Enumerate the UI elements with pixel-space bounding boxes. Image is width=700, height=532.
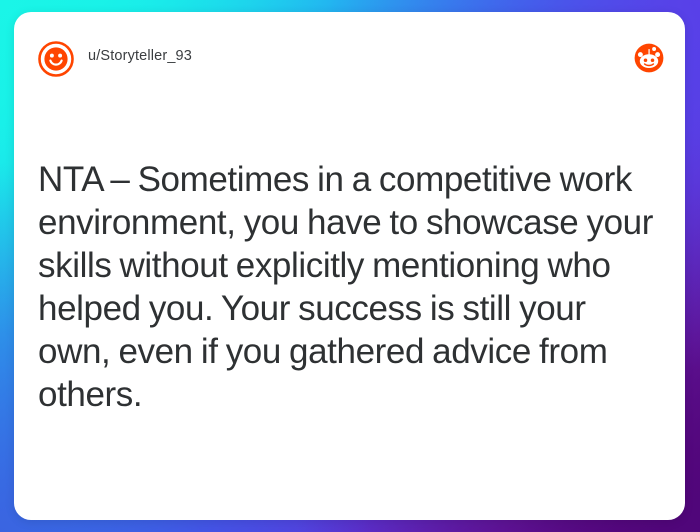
reddit-snoo-logo-icon [632,41,666,75]
smiley-face-avatar-icon [37,40,75,78]
username-label: u/Storyteller_93 [88,48,192,64]
card-header: u/Storyteller_93 [14,12,685,100]
comment-text: NTA – Sometimes in a competitive work en… [38,158,663,416]
reddit-comment-card: u/Storyteller_93 NTA – So [14,12,685,520]
gradient-background: u/Storyteller_93 NTA – So [0,0,700,532]
